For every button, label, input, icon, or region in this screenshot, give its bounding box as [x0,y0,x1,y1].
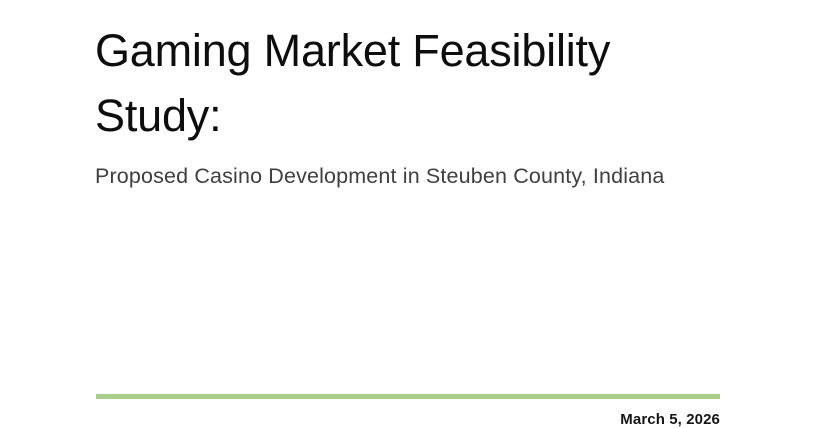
slide-subtitle: Proposed Casino Development in Steuben C… [95,148,735,191]
slide-footer: March 5, 2026 [96,394,720,428]
slide-date: March 5, 2026 [96,399,720,428]
title-block: Gaming Market Feasibility Study: Propose… [95,18,735,191]
title-slide: Gaming Market Feasibility Study: Propose… [0,0,815,428]
page-title: Gaming Market Feasibility Study: [95,18,735,148]
